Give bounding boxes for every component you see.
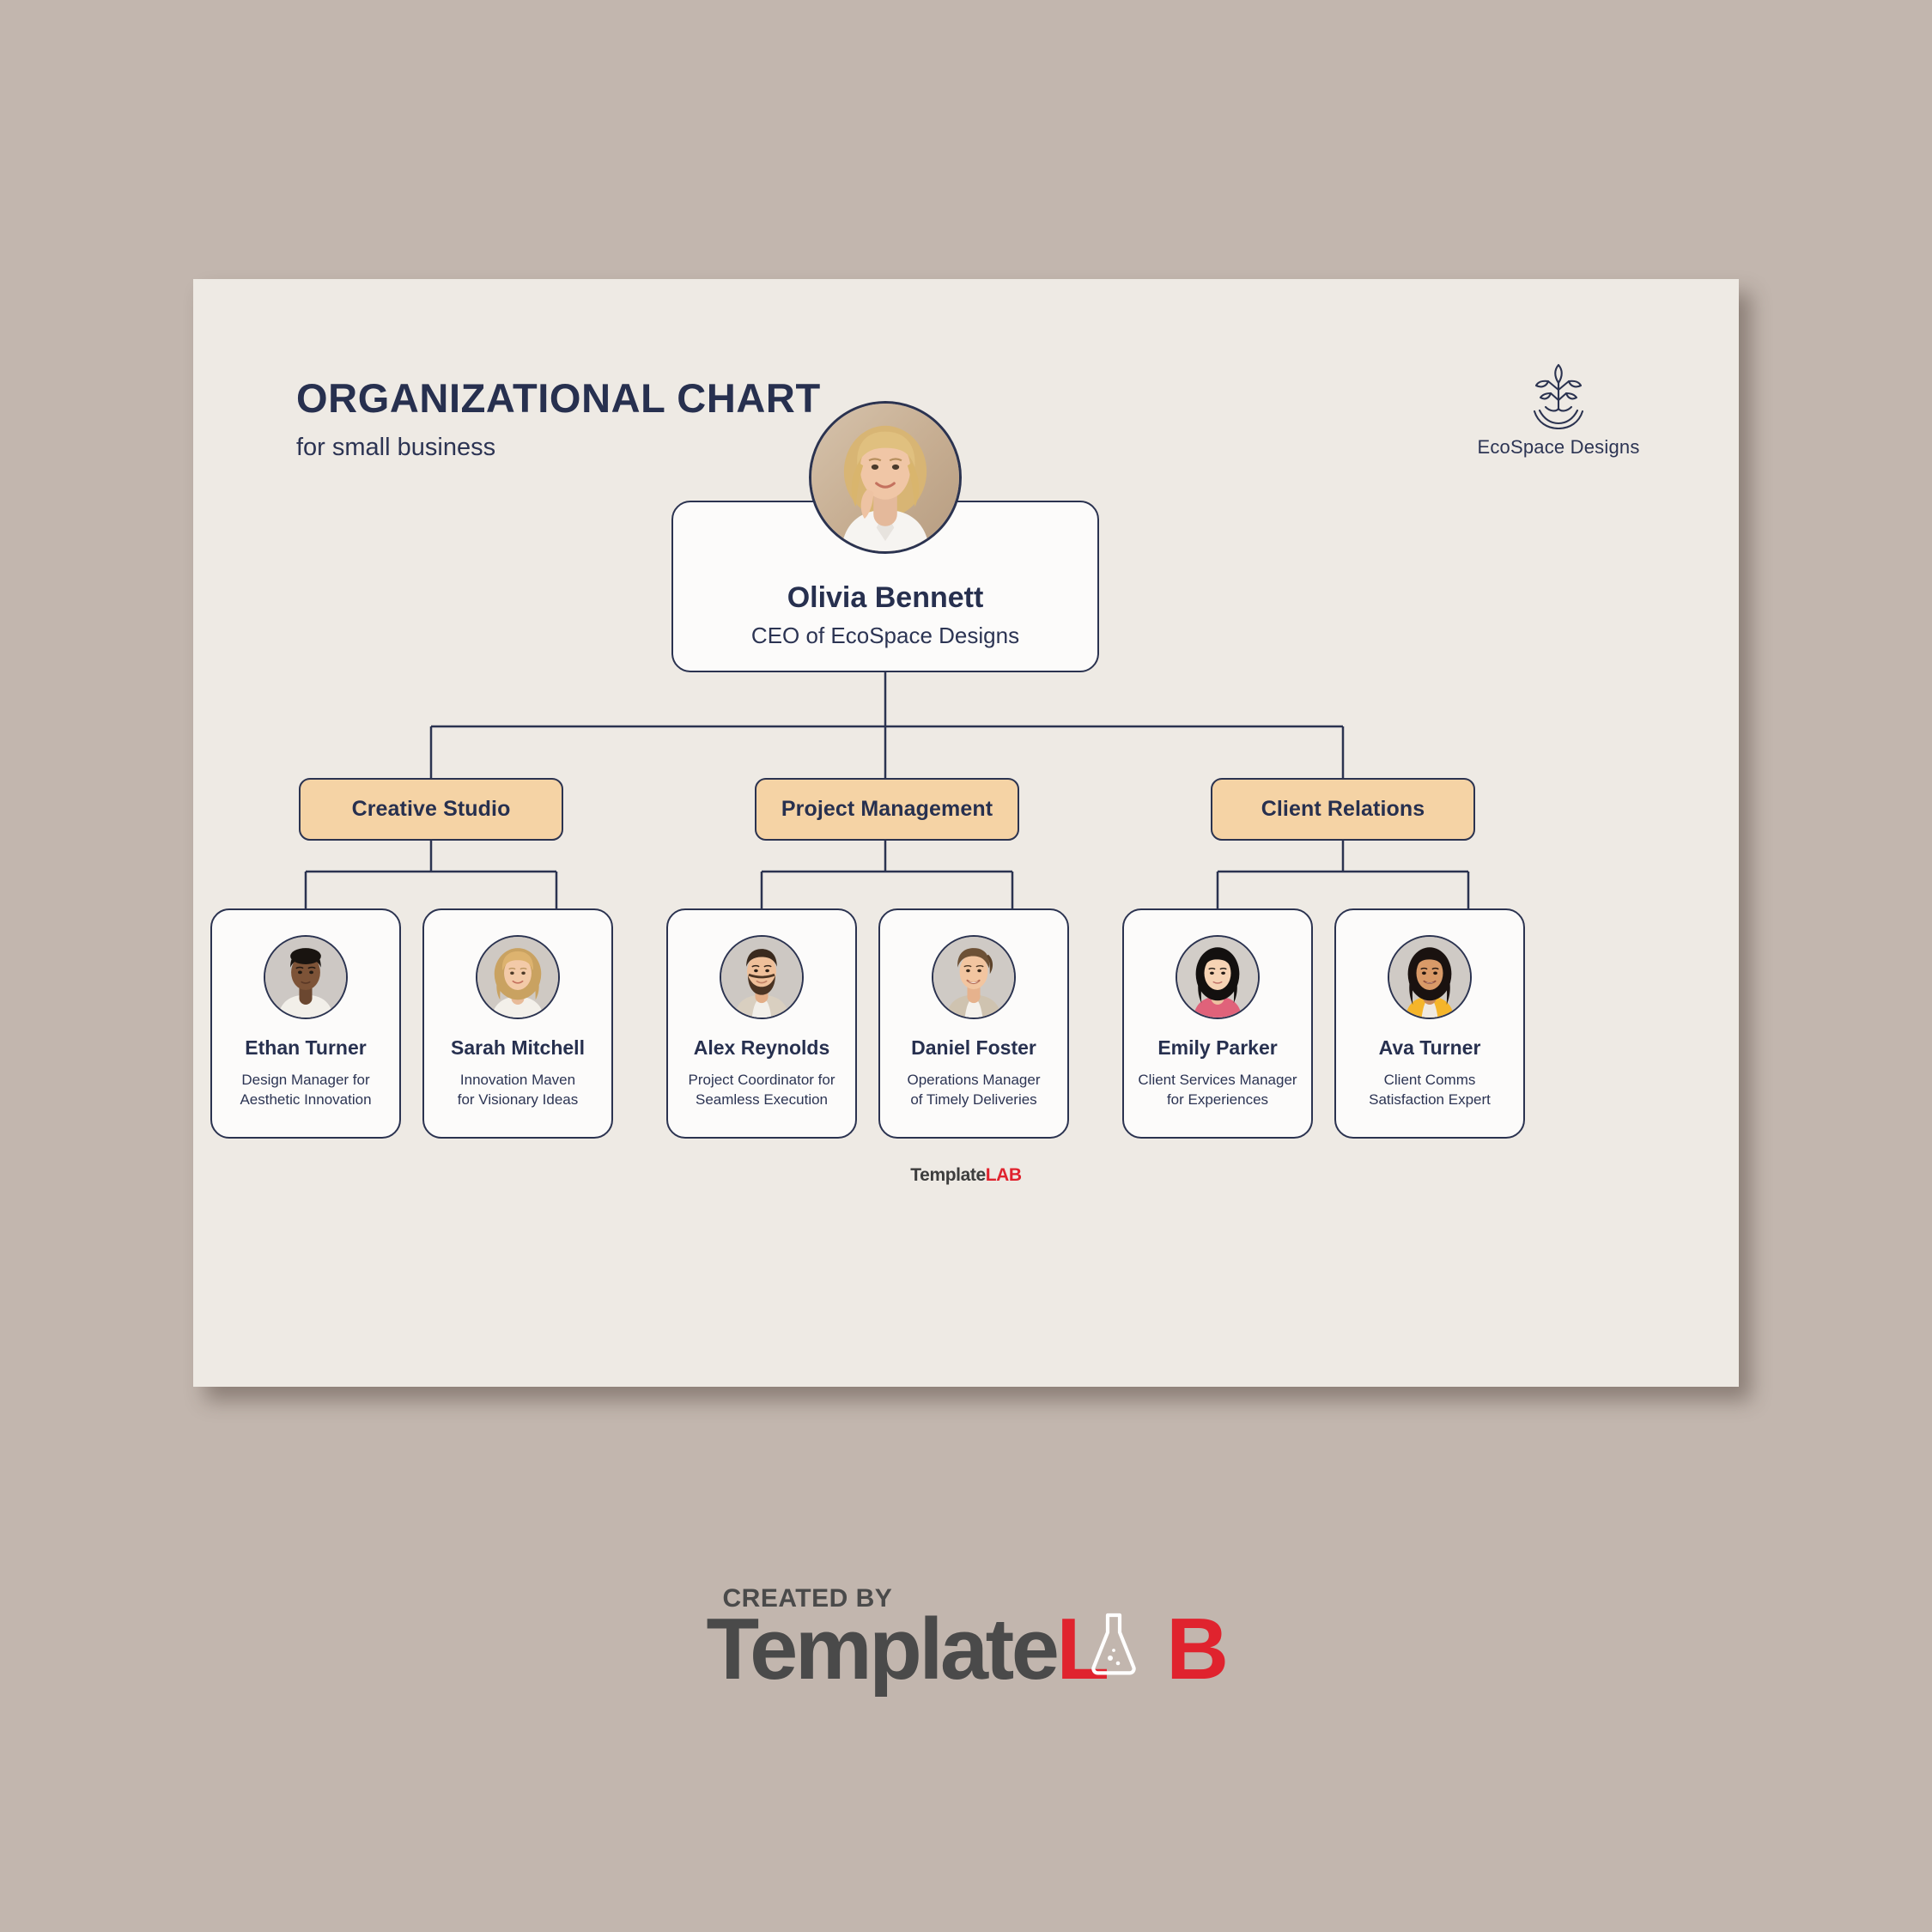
- avatar-photo-sarah-mitchell: [476, 935, 560, 1019]
- employee-name: Daniel Foster: [885, 1037, 1062, 1059]
- employee-role: Innovation Maven for Visionary Ideas: [433, 1070, 603, 1110]
- employee-role-line1: Innovation Maven: [460, 1072, 575, 1088]
- department-label: Project Management: [781, 797, 993, 822]
- org-tree: Olivia Bennett CEO of EcoSpace Designs C…: [193, 279, 1739, 1387]
- employee-card-ava-turner[interactable]: Ava Turner Client Comms Satisfaction Exp…: [1334, 908, 1525, 1139]
- department-label: Client Relations: [1261, 797, 1425, 822]
- employee-name: Ethan Turner: [217, 1037, 394, 1059]
- employee-name: Ava Turner: [1341, 1037, 1518, 1059]
- avatar-photo-alex-reynolds: [720, 935, 804, 1019]
- employee-role: Client Services Manager for Experiences: [1133, 1070, 1303, 1110]
- employee-role-line2: Aesthetic Innovation: [240, 1091, 371, 1108]
- employee-name: Alex Reynolds: [673, 1037, 850, 1059]
- ceo-name: Olivia Bennett: [673, 581, 1097, 615]
- employee-role-line1: Operations Manager: [908, 1072, 1041, 1088]
- employee-role: Operations Manager of Timely Deliveries: [889, 1070, 1059, 1110]
- employee-card-emily-parker[interactable]: Emily Parker Client Services Manager for…: [1122, 908, 1313, 1139]
- inner-watermark: TemplateLAB: [193, 1165, 1739, 1186]
- footer-lab-letter-b: B: [1166, 1601, 1225, 1698]
- ceo-role: CEO of EcoSpace Designs: [673, 623, 1097, 649]
- department-node-client-relations[interactable]: Client Relations: [1211, 778, 1475, 841]
- footer-lab-text: LAB: [1056, 1601, 1225, 1698]
- watermark-template-text: Template: [910, 1165, 985, 1185]
- employee-role-line1: Project Coordinator for: [688, 1072, 835, 1088]
- employee-role: Client Comms Satisfaction Expert: [1345, 1070, 1515, 1110]
- footer-template-text: Template: [706, 1601, 1056, 1698]
- employee-role-line2: for Visionary Ideas: [458, 1091, 578, 1108]
- employee-role-line1: Client Comms: [1384, 1072, 1476, 1088]
- avatar-photo-daniel-foster: [932, 935, 1016, 1019]
- employee-role-line2: Satisfaction Expert: [1369, 1091, 1491, 1108]
- watermark-lab-text: LAB: [986, 1165, 1022, 1185]
- employee-card-sarah-mitchell[interactable]: Sarah Mitchell Innovation Maven for Visi…: [422, 908, 613, 1139]
- employee-role-line2: of Timely Deliveries: [910, 1091, 1036, 1108]
- footer-wordmark: TemplateLAB: [0, 1608, 1932, 1692]
- employee-role: Design Manager for Aesthetic Innovation: [221, 1070, 391, 1110]
- avatar-photo-ethan-turner: [264, 935, 348, 1019]
- department-node-creative-studio[interactable]: Creative Studio: [299, 778, 563, 841]
- org-node-ceo[interactable]: Olivia Bennett CEO of EcoSpace Designs: [671, 501, 1099, 672]
- department-node-project-management[interactable]: Project Management: [755, 778, 1019, 841]
- employee-role-line2: Seamless Execution: [696, 1091, 828, 1108]
- employee-card-ethan-turner[interactable]: Ethan Turner Design Manager for Aestheti…: [210, 908, 401, 1139]
- employee-role-line2: for Experiences: [1167, 1091, 1268, 1108]
- employee-role-line1: Client Services Manager: [1138, 1072, 1297, 1088]
- chart-canvas: ORGANIZATIONAL CHART for small business: [193, 279, 1739, 1387]
- flask-icon: [1089, 1612, 1139, 1675]
- employee-card-daniel-foster[interactable]: Daniel Foster Operations Manager of Time…: [878, 908, 1069, 1139]
- employee-role: Project Coordinator for Seamless Executi…: [677, 1070, 847, 1110]
- avatar-photo-olivia-bennett: [809, 401, 962, 554]
- employee-name: Emily Parker: [1129, 1037, 1306, 1059]
- avatar-photo-emily-parker: [1176, 935, 1260, 1019]
- employee-role-line1: Design Manager for: [241, 1072, 369, 1088]
- employee-name: Sarah Mitchell: [429, 1037, 606, 1059]
- department-label: Creative Studio: [352, 797, 511, 822]
- avatar-photo-ava-turner: [1388, 935, 1472, 1019]
- footer-brand: CREATED BY TemplateLAB: [0, 1584, 1932, 1692]
- employee-card-alex-reynolds[interactable]: Alex Reynolds Project Coordinator for Se…: [666, 908, 857, 1139]
